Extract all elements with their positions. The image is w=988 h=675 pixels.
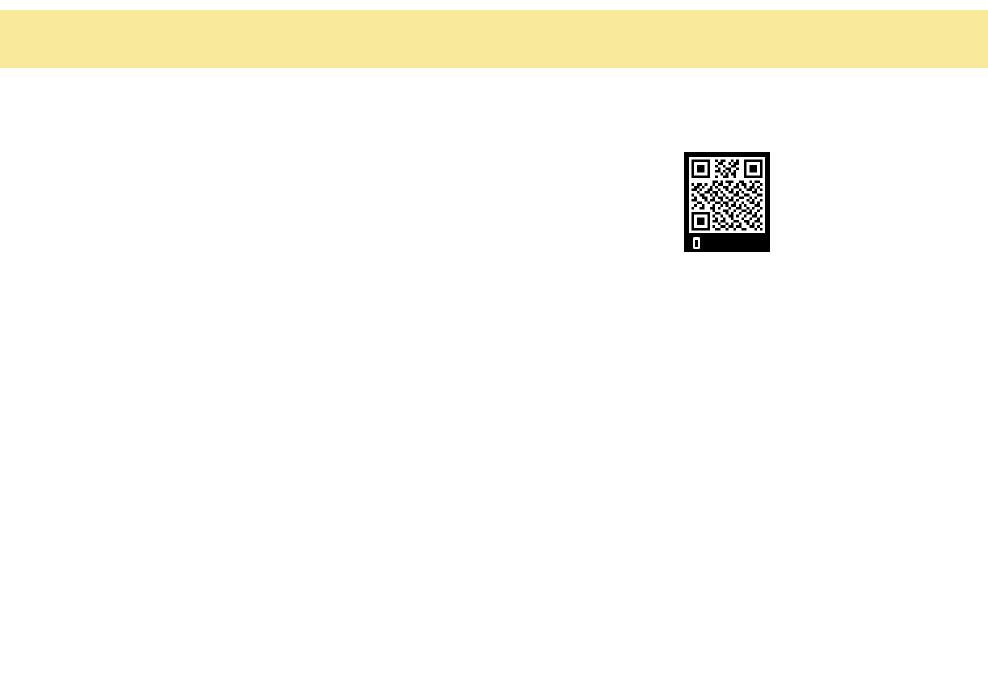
qr-code-svg (689, 157, 765, 233)
qr-scan-row (689, 233, 765, 253)
title-banner (0, 10, 988, 68)
poster-page (0, 0, 988, 675)
qr-code-image (689, 157, 765, 233)
qr-code-box[interactable] (684, 152, 770, 252)
phone-icon (693, 237, 700, 249)
